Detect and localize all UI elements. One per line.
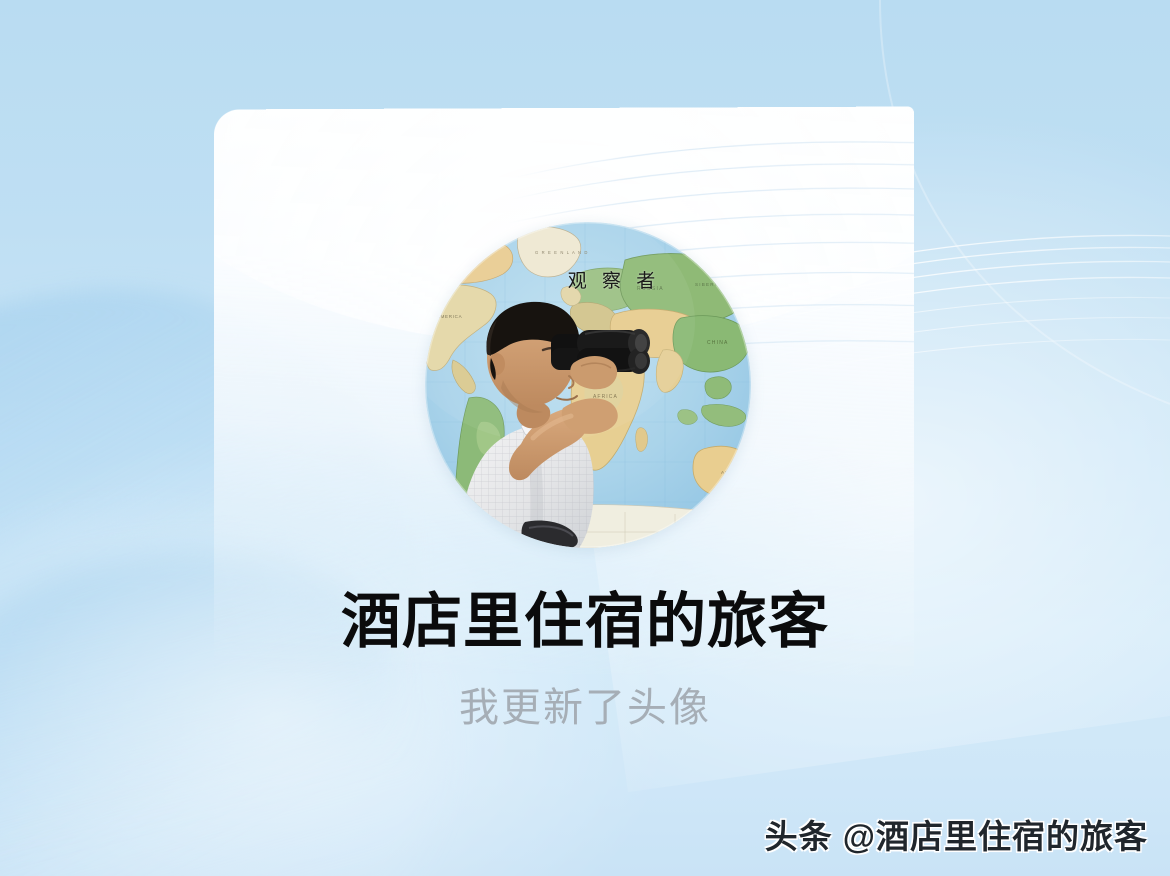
watermark: 头条 @酒店里住宿的旅客 (765, 810, 1148, 858)
profile-card-slide: G R E E N L A N D N.AMERICA RUSSIA SIB (0, 0, 1170, 876)
page-subtitle: 我更新了头像 (0, 686, 1170, 730)
avatar[interactable]: G R E E N L A N D N.AMERICA RUSSIA SIB (425, 222, 751, 548)
page-title: 酒店里住宿的旅客 (0, 590, 1170, 655)
svg-text:CHINA: CHINA (707, 340, 729, 346)
avatar-photo: G R E E N L A N D N.AMERICA RUSSIA SIB (425, 222, 751, 548)
